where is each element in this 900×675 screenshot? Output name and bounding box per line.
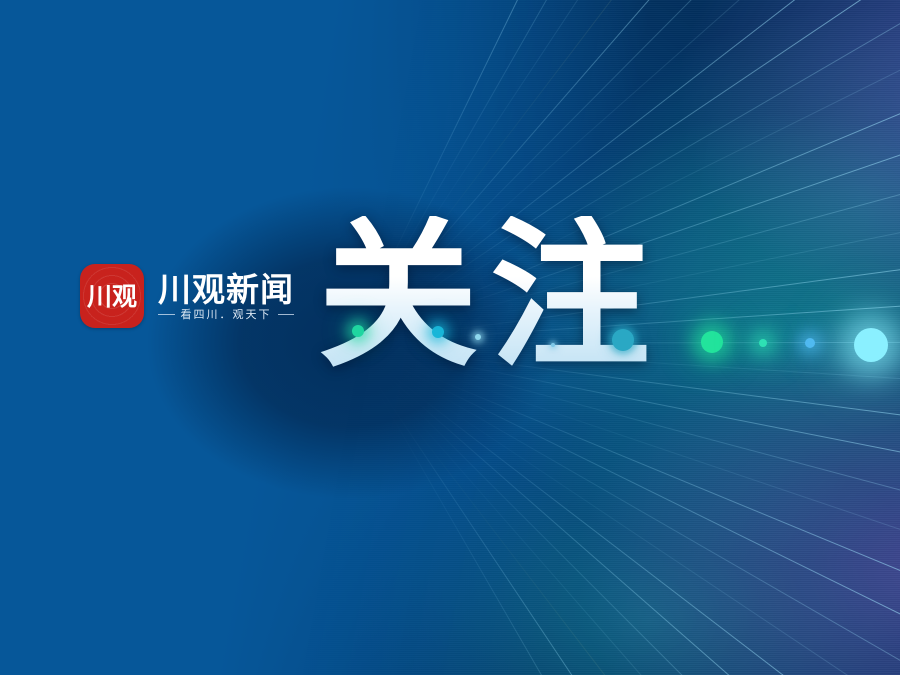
headline-text: 关注	[318, 216, 662, 376]
brand-wordmark: 川观新闻 看四川．观天下	[158, 273, 294, 320]
brand-name: 川观新闻	[158, 273, 294, 306]
brand-logo[interactable]: 川观 川观新闻 看四川．观天下	[80, 264, 294, 328]
brand-tagline: 看四川．观天下	[181, 309, 272, 320]
poster-canvas: 川观 川观新闻 看四川．观天下 关注	[0, 0, 900, 675]
brand-mark-text: 川观	[87, 284, 137, 309]
brand-mark-icon: 川观	[80, 264, 144, 328]
brand-tagline-row: 看四川．观天下	[158, 309, 294, 320]
tagline-rule-right	[278, 314, 295, 315]
tagline-rule-left	[158, 314, 175, 315]
